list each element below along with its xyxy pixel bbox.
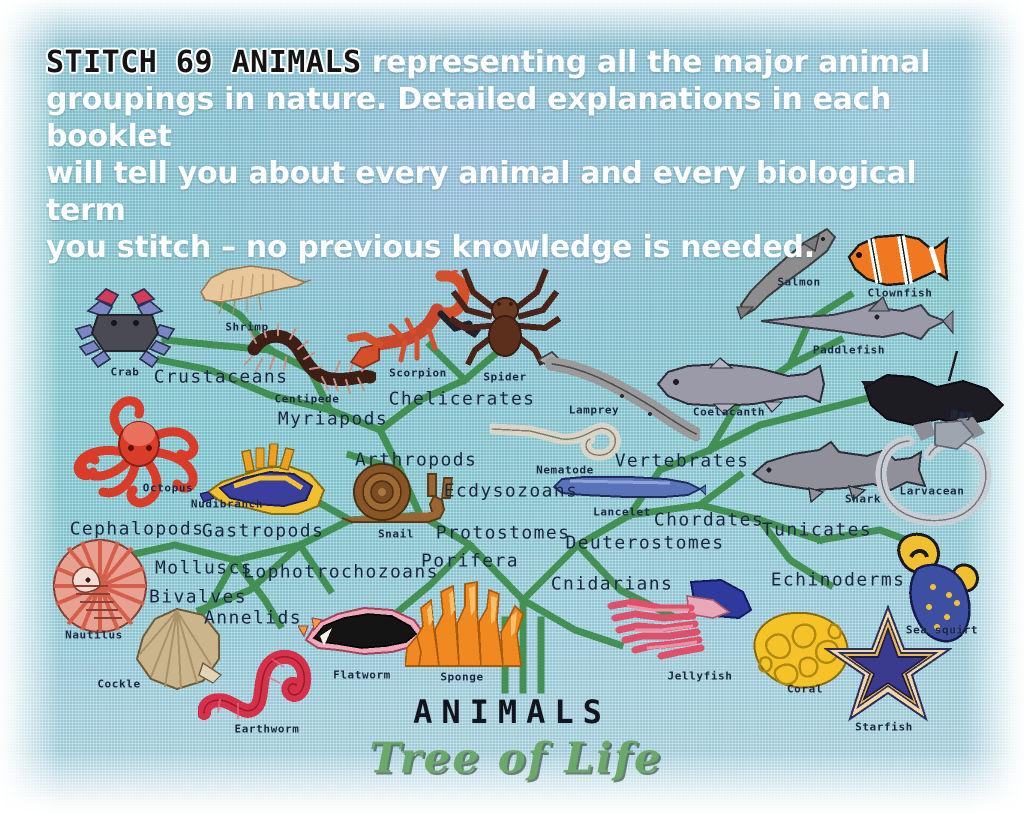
animal-label-paddlefish: Paddlefish bbox=[813, 344, 885, 357]
animal-label-centipede: Centipede bbox=[274, 393, 339, 406]
group-label-molluscs: Molluscs bbox=[155, 558, 253, 579]
animal-label-nautilus: Nautilus bbox=[65, 629, 123, 642]
animal-label-snail: Snail bbox=[378, 528, 414, 541]
promo-line-4: you stitch – no previous knowledge is ne… bbox=[46, 229, 956, 266]
animal-label-spider: Spider bbox=[483, 371, 526, 384]
promo-lead: STITCH 69 ANIMALS bbox=[46, 45, 362, 80]
animal-label-sea-squirt: Sea squirt bbox=[906, 624, 978, 637]
animal-label-nudibranch: Nudibranch bbox=[191, 498, 263, 511]
animal-label-octopus: Octopus bbox=[143, 482, 194, 495]
group-label-tunicates: Tunicates bbox=[762, 520, 872, 541]
group-label-echinoderms: Echinoderms bbox=[771, 570, 906, 591]
animal-label-clownfish: Clownfish bbox=[867, 287, 932, 300]
animal-label-earthworm: Earthworm bbox=[234, 723, 299, 736]
animal-label-lancelet: Lancelet bbox=[593, 506, 651, 519]
animal-label-cockle: Cockle bbox=[97, 678, 140, 691]
group-label-lophotrochozoans: Lophotrochozoans bbox=[243, 562, 439, 583]
animal-label-larvacean: Larvacean bbox=[899, 485, 964, 498]
design-title-tree-of-life: Tree of Life bbox=[369, 734, 662, 783]
animal-label-coelacanth: Coelacanth bbox=[693, 406, 765, 419]
group-label-myriapods: Myriapods bbox=[278, 409, 388, 430]
promo-line-1: STITCH 69 ANIMALS representing all the m… bbox=[46, 44, 956, 81]
animal-label-salmon: Salmon bbox=[777, 276, 820, 289]
group-label-chelicerates: Chelicerates bbox=[389, 389, 536, 410]
group-label-chordates: Chordates bbox=[654, 510, 764, 531]
animal-label-crab: Crab bbox=[111, 366, 140, 379]
group-label-arthropods: Arthropods bbox=[355, 450, 477, 471]
promo-line-3: will tell you about every animal and eve… bbox=[46, 155, 956, 229]
group-label-bivalves: Bivalves bbox=[149, 587, 247, 608]
promo-line-2: groupings in nature. Detailed explanatio… bbox=[46, 81, 956, 155]
promo-header: STITCH 69 ANIMALS representing all the m… bbox=[46, 44, 956, 266]
animal-label-shark: Shark bbox=[845, 493, 881, 506]
promo-body-1: representing all the major animal bbox=[362, 45, 931, 80]
group-label-crustaceans: Crustaceans bbox=[154, 367, 289, 388]
animal-label-lamprey: Lamprey bbox=[569, 404, 620, 417]
animal-label-coral: Coral bbox=[787, 683, 823, 696]
group-label-vertebrates: Vertebrates bbox=[615, 451, 750, 472]
group-label-gastropods: Gastropods bbox=[202, 521, 324, 542]
cross-stitch-poster: Crab Shrimp Centipede Scorpion Spider Ne… bbox=[0, 0, 1024, 813]
group-label-ecdysozoans: Ecdysozoans bbox=[444, 481, 579, 502]
group-label-deuterostomes: Deuterostomes bbox=[565, 533, 724, 554]
design-title-animals: ANIMALS bbox=[413, 693, 611, 731]
animal-label-shrimp: Shrimp bbox=[225, 321, 268, 334]
group-label-cnidarians: Cnidarians bbox=[551, 574, 673, 595]
animal-label-scorpion: Scorpion bbox=[389, 367, 447, 380]
group-label-protostomes: Protostomes bbox=[436, 523, 571, 544]
animal-label-flatworm: Flatworm bbox=[333, 669, 391, 682]
group-label-cephalopods: Cephalopods bbox=[70, 519, 205, 540]
animal-label-starfish: Starfish bbox=[855, 721, 913, 734]
animal-label-nematode: Nematode bbox=[536, 464, 594, 477]
animal-label-jellyfish: Jellyfish bbox=[667, 670, 732, 683]
animal-label-ray: Ray bbox=[951, 409, 973, 422]
animal-label-sponge: Sponge bbox=[440, 671, 483, 684]
group-label-annelids: Annelids bbox=[204, 608, 302, 629]
